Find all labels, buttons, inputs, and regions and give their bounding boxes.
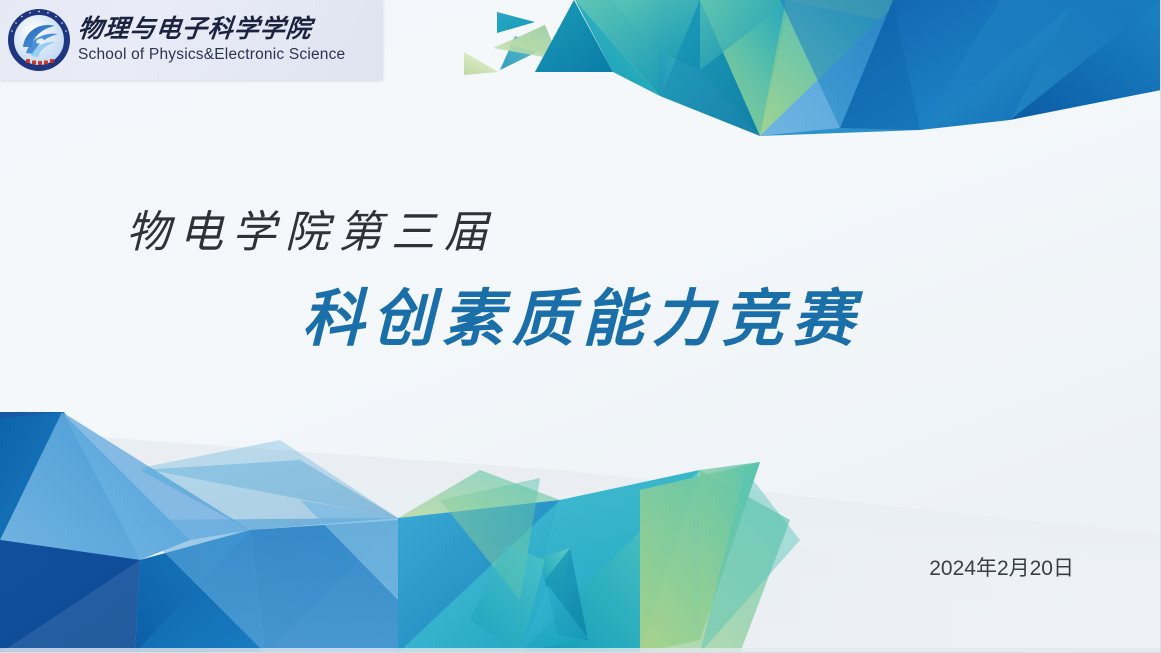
deco-polygon [470, 545, 545, 653]
deco-triangle [535, 0, 613, 72]
deco-triangle [780, 0, 900, 128]
deco-triangle [0, 412, 62, 540]
deco-triangle [300, 500, 400, 600]
deco-triangle [0, 412, 140, 560]
presentation-slide: 物理与电子科学学院 School of Physics&Electronic S… [0, 0, 1161, 653]
school-name-block: 物理与电子科学学院 School of Physics&Electronic S… [78, 16, 345, 63]
deco-polygon [132, 518, 400, 653]
deco-polygon [920, 0, 1080, 130]
deco-triangle [786, 0, 900, 20]
deco-polygon [840, 0, 1010, 130]
deco-triangle [500, 36, 545, 70]
deco-polygon [140, 460, 398, 530]
deco-triangle [398, 470, 560, 518]
school-name-cn: 物理与电子科学学院 [77, 16, 347, 42]
deco-polygon [398, 500, 560, 653]
deco-polygon [760, 0, 1010, 136]
deco-polygon [135, 530, 265, 653]
deco-triangle [893, 0, 1010, 130]
university-emblem-icon [6, 7, 72, 73]
deco-triangle [660, 0, 760, 136]
deco-triangle [700, 0, 790, 70]
slide-subtitle: 物电学院第三届 [126, 196, 497, 260]
deco-polygon [640, 462, 760, 653]
deco-triangle [62, 412, 190, 560]
deco-triangle [700, 470, 800, 653]
deco-triangle [1090, 0, 1161, 20]
deco-polygon [640, 470, 790, 653]
deco-triangle [135, 530, 250, 653]
deco-triangle [250, 520, 400, 653]
deco-triangle [535, 0, 574, 72]
deco-triangle [508, 24, 558, 58]
deco-polygon [545, 548, 588, 640]
deco-triangle [440, 478, 540, 600]
deco-polygon [250, 520, 400, 653]
deco-polygon [0, 412, 140, 560]
deco-polygon [612, 0, 700, 70]
school-logo-plate: 物理与电子科学学院 School of Physics&Electronic S… [0, 0, 383, 80]
deco-triangle [760, 0, 900, 136]
deco-triangle [920, 0, 1080, 130]
deco-triangle [0, 412, 64, 460]
deco-triangle [497, 12, 535, 33]
deco-triangle [62, 412, 250, 540]
deco-polygon [520, 470, 700, 653]
deco-triangle [655, 0, 700, 96]
deco-triangle [464, 52, 498, 75]
deco-triangle [575, 0, 700, 96]
deco-triangle [398, 500, 560, 653]
deco-triangle [1010, 0, 1161, 120]
slide-date: 2024年2月20日 [929, 552, 1074, 582]
deco-triangle [140, 440, 398, 518]
deco-triangle [520, 585, 588, 653]
school-name-en: School of Physics&Electronic Science [78, 46, 345, 64]
deco-triangle [493, 25, 560, 60]
deco-polygon [540, 548, 570, 600]
deco-triangle [520, 470, 700, 653]
deco-triangle [575, 0, 660, 96]
deco-polygon [1010, 0, 1161, 120]
deco-polygon [0, 560, 140, 653]
slide-main-title: 科创素质能力竞赛 [302, 268, 862, 358]
deco-polygon [760, 0, 900, 136]
deco-triangle [0, 540, 140, 653]
deco-triangle [700, 462, 760, 640]
deco-polygon [700, 0, 790, 136]
